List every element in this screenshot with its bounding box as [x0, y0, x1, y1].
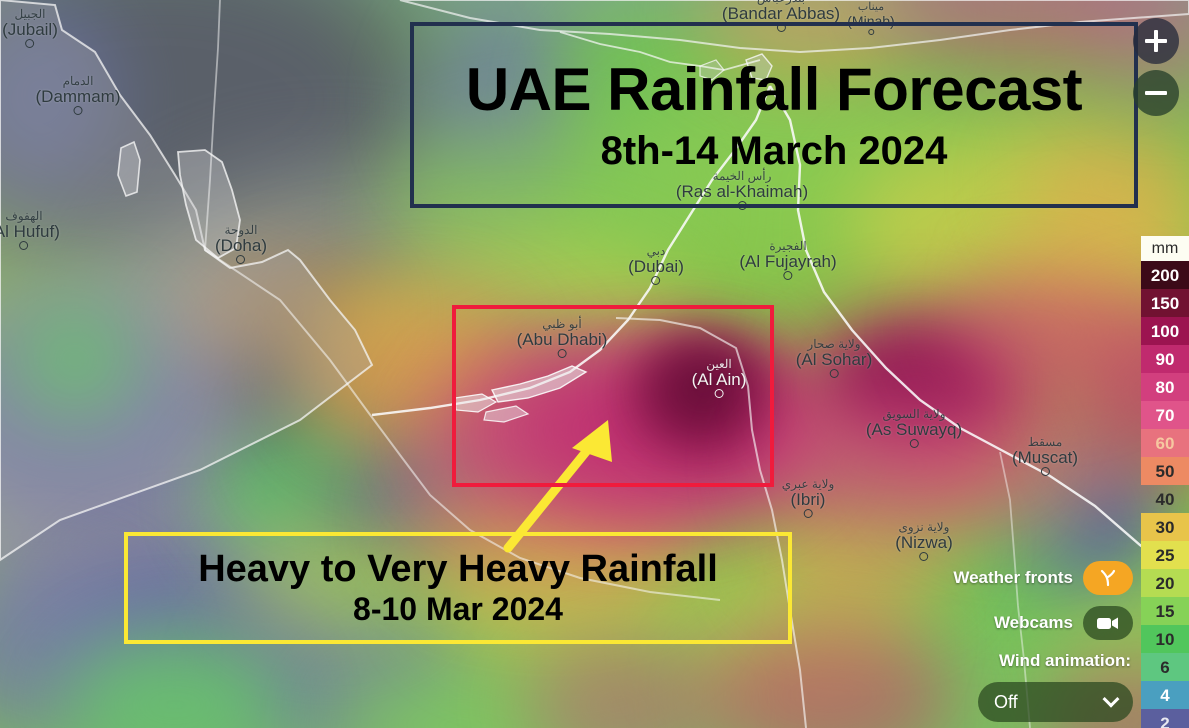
city-label-arabic: الدوحة — [215, 224, 267, 237]
city-label-english: (Muscat) — [1012, 449, 1078, 467]
city-marker-dot — [830, 369, 839, 378]
zoom-in-button[interactable] — [1133, 18, 1179, 64]
city-label-english: (Al Fujayrah) — [739, 253, 836, 271]
city-marker-dot — [26, 39, 35, 48]
raster-blob — [940, 270, 1140, 390]
city-label-english: (As Suwayq) — [866, 421, 962, 439]
city-label-english: (Doha) — [215, 237, 267, 255]
city-label-arabic: ولاية نزوى — [895, 521, 953, 534]
city-label-arabic: ولاية عبري — [782, 478, 835, 491]
legend-stop[interactable]: 25 — [1141, 541, 1189, 569]
wind-animation-value: Off — [994, 692, 1018, 713]
video-camera-icon — [1096, 615, 1120, 631]
page-title: UAE Rainfall Forecast — [466, 58, 1082, 121]
legend-stop[interactable]: 50 — [1141, 457, 1189, 485]
chevron-down-icon — [1103, 691, 1120, 708]
raster-blob — [180, 250, 380, 370]
city-label-arabic: مسقط — [1012, 436, 1078, 449]
city-label[interactable]: ولاية السويق(As Suwayq) — [866, 408, 962, 448]
webcams-toggle[interactable] — [1083, 606, 1133, 640]
legend-stop[interactable]: 90 — [1141, 345, 1189, 373]
legend-stop[interactable]: 60 — [1141, 429, 1189, 457]
legend-stop[interactable]: 40 — [1141, 485, 1189, 513]
city-label[interactable]: الدوحة(Doha) — [215, 224, 267, 264]
legend-stop[interactable]: 30 — [1141, 513, 1189, 541]
city-label-english: (Bandar Abbas) — [722, 5, 840, 23]
city-marker-dot — [910, 439, 919, 448]
city-marker-dot — [19, 241, 28, 250]
legend-stop[interactable]: 4 — [1141, 681, 1189, 709]
legend-stop[interactable]: 20 — [1141, 569, 1189, 597]
legend-stop[interactable]: 80 — [1141, 373, 1189, 401]
page-subtitle: 8th-14 March 2024 — [601, 129, 948, 173]
legend-stop[interactable]: 6 — [1141, 653, 1189, 681]
zoom-controls — [1133, 18, 1179, 116]
city-label[interactable]: الدمام(Dammam) — [36, 75, 121, 115]
plus-icon — [1154, 30, 1158, 52]
city-label-arabic: الدمام — [36, 75, 121, 88]
raster-blob — [10, 300, 140, 420]
weather-fronts-row[interactable]: Weather fronts — [953, 561, 1133, 595]
city-label[interactable]: الجبيل(Jubail) — [2, 8, 58, 48]
city-label-english: (Nizwa) — [895, 534, 953, 552]
legend-stop[interactable]: 2 — [1141, 709, 1189, 728]
city-label-arabic: بندرعباس — [722, 0, 840, 5]
legend-stop[interactable]: 70 — [1141, 401, 1189, 429]
city-label[interactable]: ولاية عبري(Ibri) — [782, 478, 835, 518]
city-marker-dot — [919, 552, 928, 561]
zoom-out-button[interactable] — [1133, 70, 1179, 116]
city-marker-dot — [1041, 467, 1050, 476]
city-marker-dot — [652, 276, 661, 285]
webcams-row[interactable]: Webcams — [994, 606, 1133, 640]
city-label-arabic: الجبيل — [2, 8, 58, 21]
city-marker-dot — [237, 255, 246, 264]
city-label-english: (Al Hufuf) — [0, 223, 60, 241]
legend-unit-label: mm — [1141, 236, 1189, 261]
city-label[interactable]: ولاية صحار(Al Sohar) — [796, 338, 873, 378]
legend-stop[interactable]: 200 — [1141, 261, 1189, 289]
city-label-arabic: الفجيرة — [739, 240, 836, 253]
wind-animation-label: Wind animation: — [999, 651, 1131, 671]
city-label-arabic: ميناب — [847, 2, 894, 14]
city-label-arabic: دبي — [628, 245, 684, 258]
webcams-label: Webcams — [994, 613, 1073, 633]
title-banner: UAE Rainfall Forecast 8th-14 March 2024 — [410, 22, 1138, 208]
city-label[interactable]: مسقط(Muscat) — [1012, 436, 1078, 476]
city-marker-dot — [803, 509, 812, 518]
city-label-arabic: ولاية صحار — [796, 338, 873, 351]
city-marker-dot — [74, 106, 83, 115]
highlight-region-box — [452, 305, 774, 487]
city-label-english: (Dammam) — [36, 88, 121, 106]
legend-stop[interactable]: 100 — [1141, 317, 1189, 345]
city-label-english: (Al Sohar) — [796, 351, 873, 369]
city-label[interactable]: الفجيرة(Al Fujayrah) — [739, 240, 836, 280]
annotation-line-2: 8-10 Mar 2024 — [353, 592, 563, 627]
city-label-arabic: الهفوف — [0, 210, 60, 223]
city-label-english: (Jubail) — [2, 21, 58, 39]
rainfall-legend[interactable]: mm 200150100908070605040302520151064210 — [1141, 236, 1189, 728]
city-label-arabic: ولاية السويق — [866, 408, 962, 421]
weather-fronts-label: Weather fronts — [953, 568, 1073, 588]
weather-fronts-toggle[interactable] — [1083, 561, 1133, 595]
legend-stop-list: 200150100908070605040302520151064210 — [1141, 261, 1189, 728]
minus-icon — [1145, 91, 1167, 95]
city-label[interactable]: الهفوف(Al Hufuf) — [0, 210, 60, 250]
city-label[interactable]: دبي(Dubai) — [628, 245, 684, 285]
city-marker-dot — [784, 271, 793, 280]
city-label-english: (Ibri) — [782, 491, 835, 509]
city-label[interactable]: ولاية نزوى(Nizwa) — [895, 521, 953, 561]
weather-front-icon — [1097, 567, 1119, 589]
legend-stop[interactable]: 10 — [1141, 625, 1189, 653]
legend-stop[interactable]: 150 — [1141, 289, 1189, 317]
wind-animation-select[interactable]: Off — [978, 682, 1133, 722]
annotation-line-1: Heavy to Very Heavy Rainfall — [198, 549, 718, 591]
annotation-box: Heavy to Very Heavy Rainfall 8-10 Mar 20… — [124, 532, 792, 644]
map-controls-panel: Weather fronts Webcams Wind animation: O… — [943, 561, 1133, 722]
city-label-english: (Dubai) — [628, 258, 684, 276]
weather-map-app: الجبيل(Jubail)الدمام(Dammam)الهفوف(Al Hu… — [0, 0, 1189, 728]
legend-stop[interactable]: 15 — [1141, 597, 1189, 625]
